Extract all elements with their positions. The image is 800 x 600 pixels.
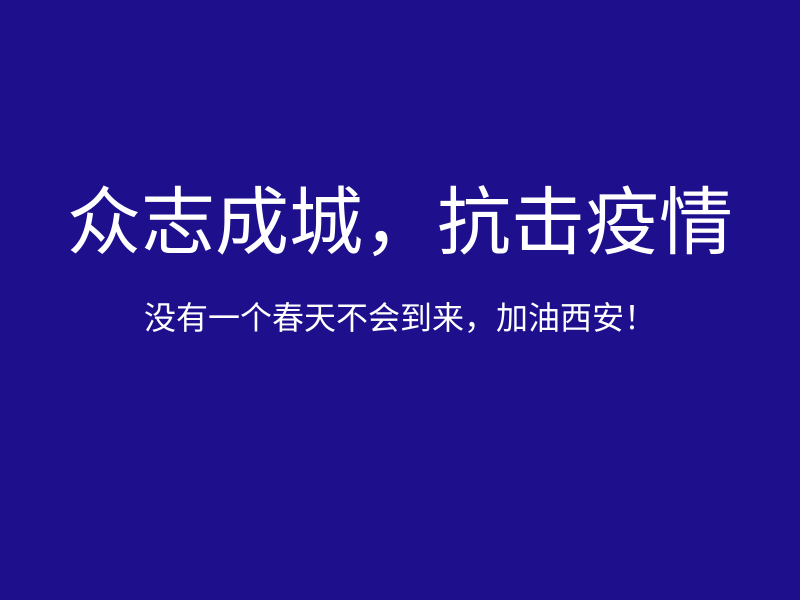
slogan-block: 众志成城，抗击疫情 没有一个春天不会到来，加油西安！ [0,186,800,334]
poster-canvas: 众志成城，抗击疫情 没有一个春天不会到来，加油西安！ [0,0,800,600]
subtitle-text: 没有一个春天不会到来，加油西安！ [144,302,656,334]
headline-text: 众志成城，抗击疫情 [67,186,733,260]
